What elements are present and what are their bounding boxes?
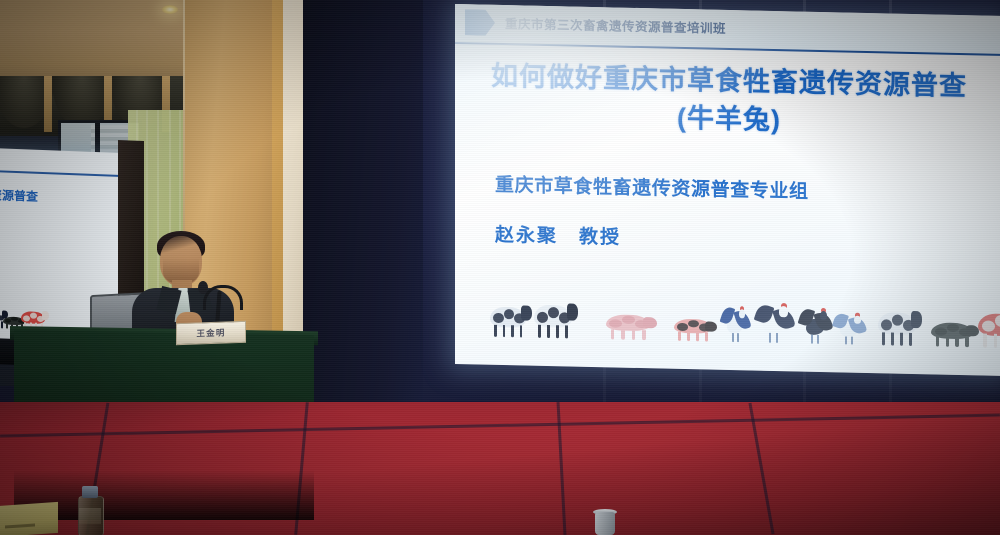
holstein-cow-2-photo [527,294,579,339]
animal-leg [621,329,624,339]
pink-pig-photo [597,305,659,340]
paper-cup [595,512,615,535]
hen-white-photo [835,312,865,345]
animal-leg [687,332,690,341]
animal-marking [935,328,947,336]
animal-leg [891,332,894,345]
hen-black-photo [801,308,831,345]
ceiling-downlight-icon [162,5,178,14]
animal-leg [611,329,614,339]
animal-leg [494,325,497,337]
animal-leg [503,325,506,337]
animal-leg [511,325,514,337]
animal-head [820,311,827,321]
animal-leg [936,337,939,347]
slide-header-text: 重庆市第三次畜禽遗传资源普查培训班 [505,13,726,37]
microphone-gooseneck [203,285,243,310]
slide-subtitle-org: 重庆市草食牲畜遗传资源普查专业组 [495,170,809,204]
rooster-blue-photo [723,306,749,343]
animal-leg [6,324,8,329]
animal-leg [565,325,568,338]
name-placard: 王金明 [176,321,246,345]
animal-marking [892,314,903,325]
animal-leg [817,335,819,344]
animal-leg [737,333,739,342]
animal-leg [994,334,998,348]
animal-marking [504,309,515,319]
backdrop-dark-column [303,0,423,460]
rooster-white-photo [757,303,793,344]
animal-leg [882,332,885,345]
animal-leg [811,334,813,343]
animal-head [705,321,716,331]
animal-leg [547,325,550,338]
animal-marking [23,315,30,321]
animal-marking [493,313,504,323]
animal-leg [900,333,903,346]
animal-leg [732,333,734,342]
animal-leg [678,332,681,341]
animal-leg [538,325,541,338]
animal-head [911,311,922,328]
animal-head [643,317,657,329]
pentagon-accent-icon [465,9,495,36]
animal-leg [642,330,645,340]
animal-leg [520,325,523,337]
animal-head [854,315,861,323]
animal-leg [632,330,635,340]
animal-head [779,306,788,317]
slide-title: 如何做好重庆市草食牲畜遗传资源普查 (牛羊兔) [455,56,1000,145]
slide-title-line2: (牛羊兔) [455,94,1000,144]
yellow-note-card [0,502,58,535]
animal-leg [983,334,987,348]
animal-leg [776,333,778,343]
projection-screen: 重庆市第三次畜禽遗传资源普查培训班 如何做好重庆市草食牲畜遗传资源普查 (牛羊兔… [455,4,1000,376]
animal-leg [845,336,847,344]
animal-head [42,311,49,320]
animal-marking [548,307,559,318]
black-head-pig-photo [667,311,719,342]
animal-marking [677,323,688,331]
red-white-bull-photo [969,301,1000,348]
slide-subtitle-speaker: 赵永聚 教授 [495,220,621,250]
livestock-photo-strip [471,266,1000,350]
animal-leg [556,325,559,338]
holstein-cow-3-photo [871,301,923,346]
animal-leg [955,337,958,347]
animal-leg [705,332,708,341]
animal-head [567,303,578,320]
animal-leg [851,336,853,344]
animal-leg [769,332,771,342]
slide-title-line1: 如何做好重庆市草食牲畜遗传资源普查 [491,61,967,101]
table-floor-shadow [14,470,314,520]
secondary-screen-title: 畜遗传资源普查 [0,185,38,205]
animal-leg [909,333,912,346]
animal-leg [946,337,949,347]
animal-leg [696,332,699,341]
conference-photo-scene: 重庆市第三次畜禽遗传资源普查培训班 如何做好重庆市草食牲畜遗传资源普查 (牛羊兔… [0,0,1000,535]
water-bottle [78,486,102,535]
holstein-cow-1-photo [483,297,533,338]
name-placard-text: 王金明 [196,326,225,339]
